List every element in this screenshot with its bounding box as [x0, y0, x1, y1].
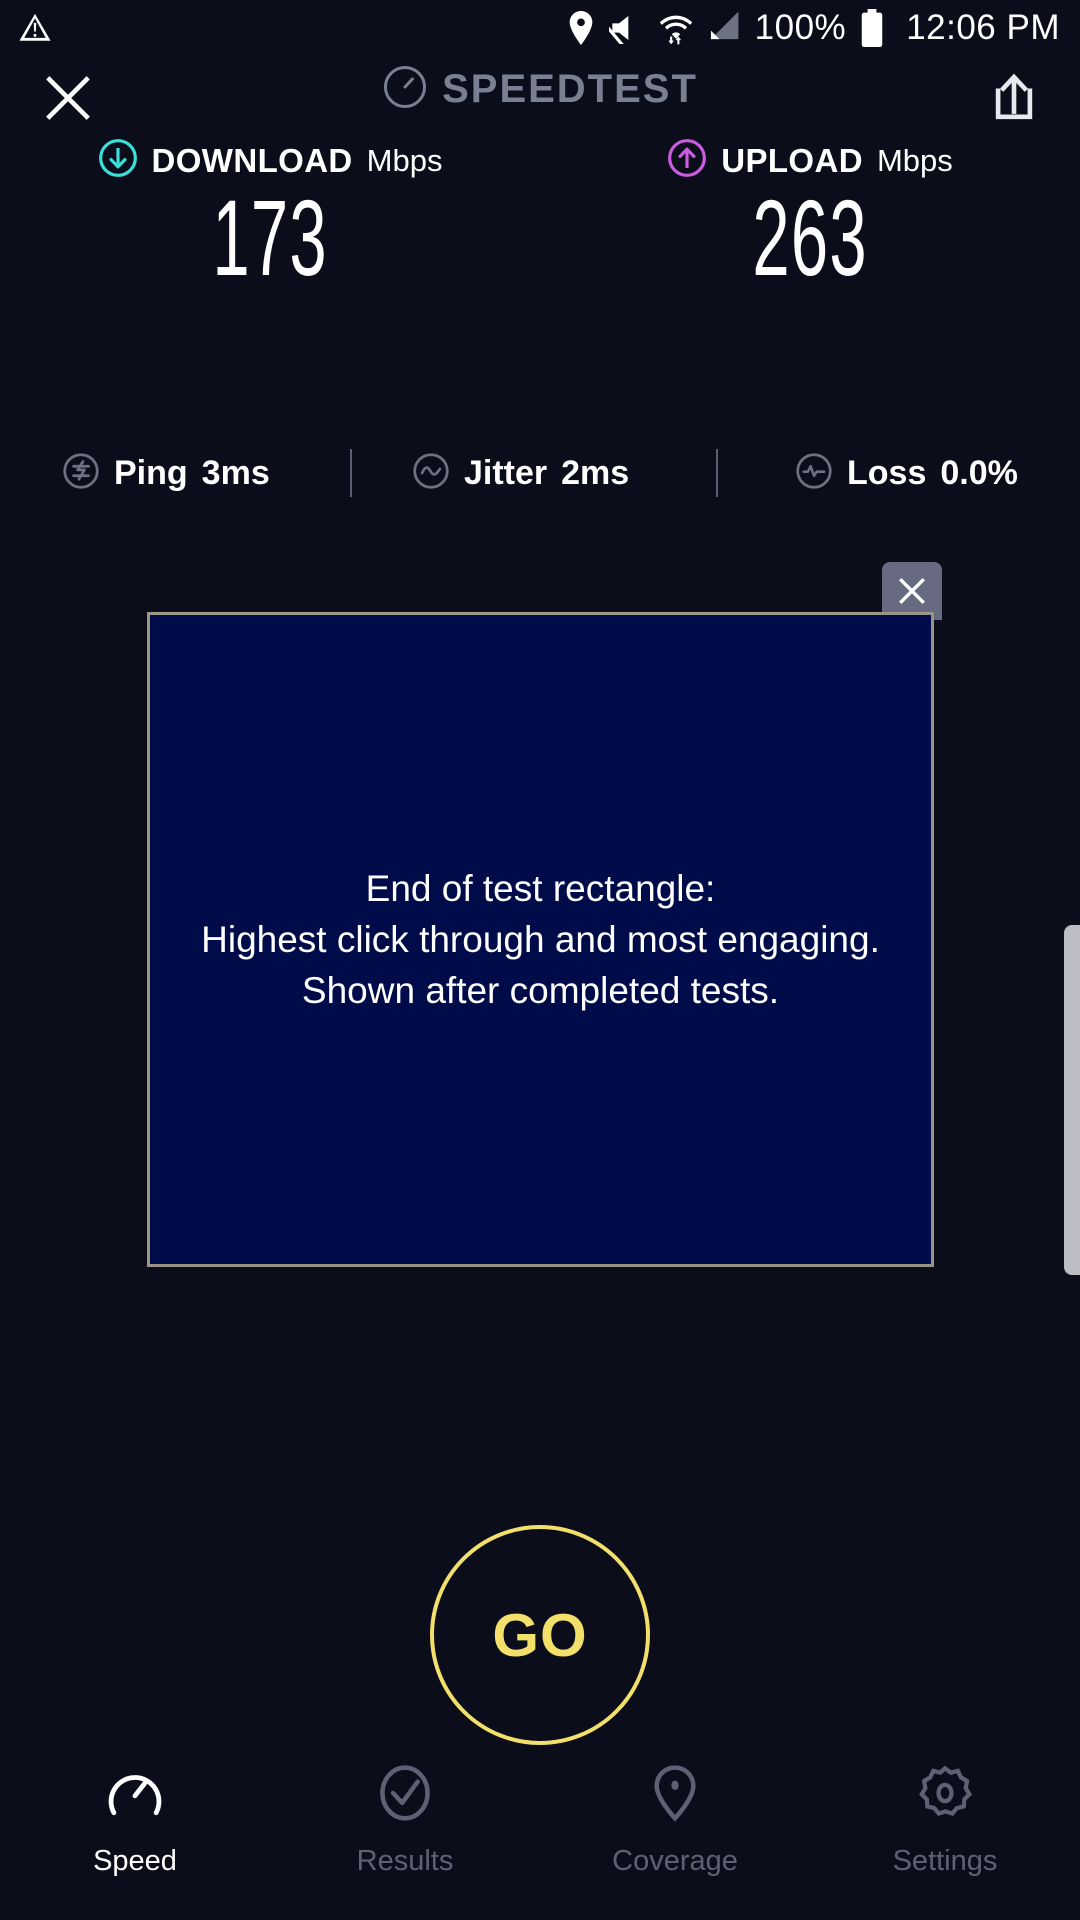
arrow-up-circle-icon [667, 138, 707, 183]
jitter-metric: Jitter 2ms [412, 452, 629, 495]
volume-mute-icon [609, 12, 645, 44]
divider-1 [350, 449, 352, 497]
divider-2 [716, 449, 718, 497]
loss-value: 0.0% [940, 454, 1018, 493]
ping-jitter-loss-row: Ping 3ms Jitter 2ms [0, 443, 1080, 503]
app-screen: 100% 12:06 PM SPEE [0, 0, 1080, 1920]
cellular-signal-icon [707, 10, 741, 47]
brand-title: SPEEDTEST [442, 67, 698, 112]
results-panel: DOWNLOAD Mbps 173 UPLOAD Mbps [0, 138, 1080, 293]
status-time: 12:06 PM [906, 8, 1060, 48]
battery-percent: 100% [755, 8, 847, 48]
upload-metric: UPLOAD Mbps 263 [540, 138, 1080, 293]
gear-icon [914, 1762, 976, 1829]
jitter-wave-icon [412, 452, 450, 495]
ad-line-1: End of test rectangle: [201, 863, 880, 914]
loss-icon [795, 452, 833, 495]
nav-item-settings[interactable]: Settings [810, 1762, 1080, 1878]
jitter-label: Jitter [464, 454, 547, 493]
go-button[interactable]: GO [430, 1525, 650, 1745]
check-circle-icon [374, 1762, 436, 1829]
ad-text: End of test rectangle: Highest click thr… [201, 863, 880, 1016]
scrollbar-thumb[interactable] [1064, 925, 1080, 1275]
ping-value: 3ms [202, 454, 270, 493]
ad-line-2: Highest click through and most engaging. [201, 914, 880, 965]
nav-item-speed[interactable]: Speed [0, 1762, 270, 1878]
battery-full-icon [860, 9, 884, 47]
download-label: DOWNLOAD [152, 142, 353, 180]
upload-unit: Mbps [877, 143, 953, 179]
ad-line-3: Shown after completed tests. [201, 965, 880, 1016]
map-pin-icon [644, 1762, 706, 1829]
nav-item-coverage[interactable]: Coverage [540, 1762, 810, 1878]
upload-label: UPLOAD [721, 142, 863, 180]
bottom-navigation: Speed Results Coverage [0, 1748, 1080, 1920]
ping-icon [62, 452, 100, 495]
location-pin-icon [567, 11, 595, 45]
download-metric: DOWNLOAD Mbps 173 [0, 138, 540, 293]
download-value: 173 [212, 183, 327, 293]
nav-label-coverage: Coverage [612, 1845, 738, 1878]
app-bar: SPEEDTEST [0, 56, 1080, 140]
loss-label: Loss [847, 454, 926, 493]
ping-label: Ping [114, 454, 188, 493]
download-unit: Mbps [367, 143, 443, 179]
share-button[interactable] [984, 66, 1044, 130]
nav-label-settings: Settings [893, 1845, 998, 1878]
warning-triangle-icon [18, 11, 52, 45]
nav-label-results: Results [357, 1845, 454, 1878]
nav-item-results[interactable]: Results [270, 1762, 540, 1878]
wifi-icon [659, 11, 693, 45]
arrow-down-circle-icon [98, 138, 138, 183]
brand: SPEEDTEST [0, 64, 1080, 115]
upload-value: 263 [752, 183, 867, 293]
loss-metric: Loss 0.0% [795, 452, 1018, 495]
ad-banner[interactable]: End of test rectangle: Highest click thr… [147, 612, 934, 1267]
speedometer-icon [382, 64, 428, 115]
ping-metric: Ping 3ms [62, 452, 270, 495]
speedometer-icon [104, 1762, 166, 1829]
go-button-label: GO [492, 1601, 587, 1670]
status-bar: 100% 12:06 PM [0, 0, 1080, 56]
nav-label-speed: Speed [93, 1845, 177, 1878]
jitter-value: 2ms [561, 454, 629, 493]
